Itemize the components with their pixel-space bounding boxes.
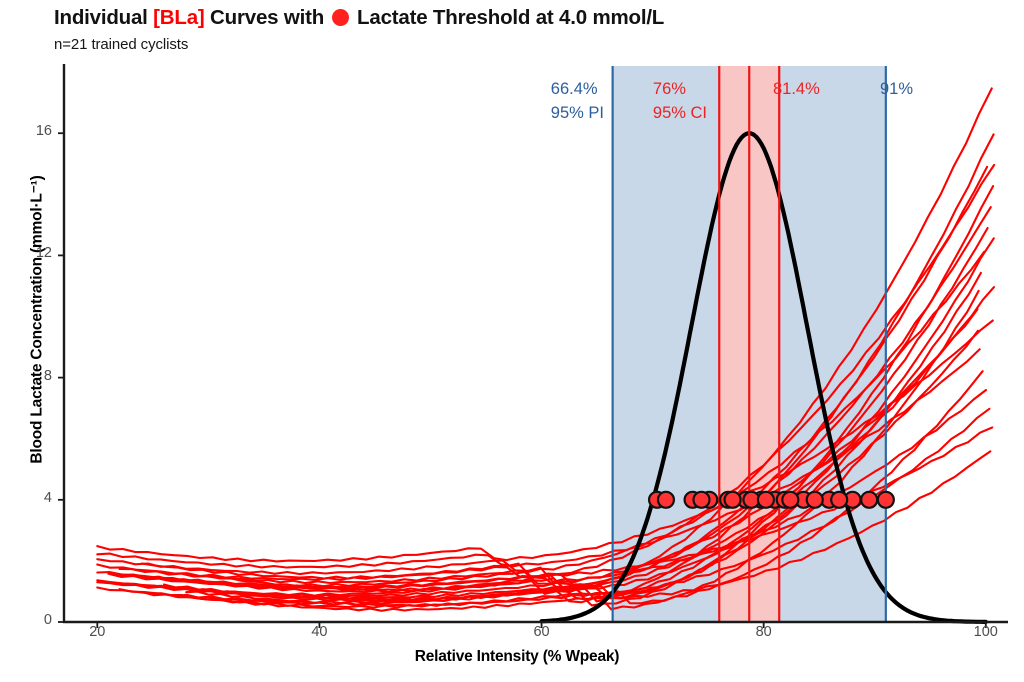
threshold-point (658, 492, 674, 508)
annotation-ci-upper-value: 81.4% (773, 78, 820, 102)
annotation-pi-upper-value: 91% (880, 78, 913, 102)
threshold-point (831, 492, 847, 508)
plot-area (0, 0, 1024, 682)
annotation-pi-lower: 66.4% 95% PI (551, 78, 604, 126)
threshold-point (693, 492, 709, 508)
threshold-point (725, 492, 741, 508)
y-tick-label: 16 (18, 123, 52, 139)
threshold-point (861, 492, 877, 508)
lactate-curves-figure: Individual [BLa] Curves with Lactate Thr… (0, 0, 1024, 682)
threshold-point (878, 492, 894, 508)
threshold-point (807, 492, 823, 508)
annotation-pi-lower-sub: 95% PI (551, 102, 604, 126)
x-tick-label: 40 (311, 624, 327, 640)
y-tick-label: 4 (18, 490, 52, 506)
threshold-points-layer (649, 492, 894, 508)
y-tick-label: 12 (18, 245, 52, 261)
y-tick-label: 0 (18, 612, 52, 628)
x-tick-label: 100 (974, 624, 998, 640)
x-tick-label: 60 (533, 624, 549, 640)
annotation-pi-lower-value: 66.4% (551, 78, 604, 102)
annotation-ci-lower-sub: 95% CI (653, 102, 707, 126)
annotation-ci-upper: 81.4% (773, 78, 820, 102)
annotation-pi-upper: 91% (880, 78, 913, 102)
threshold-point (782, 492, 798, 508)
x-tick-label: 80 (756, 624, 772, 640)
x-tick-label: 20 (89, 624, 105, 640)
annotation-ci-lower-value: 76% (653, 78, 707, 102)
y-tick-label: 8 (18, 368, 52, 384)
annotation-ci-lower: 76% 95% CI (653, 78, 707, 126)
threshold-point (758, 492, 774, 508)
